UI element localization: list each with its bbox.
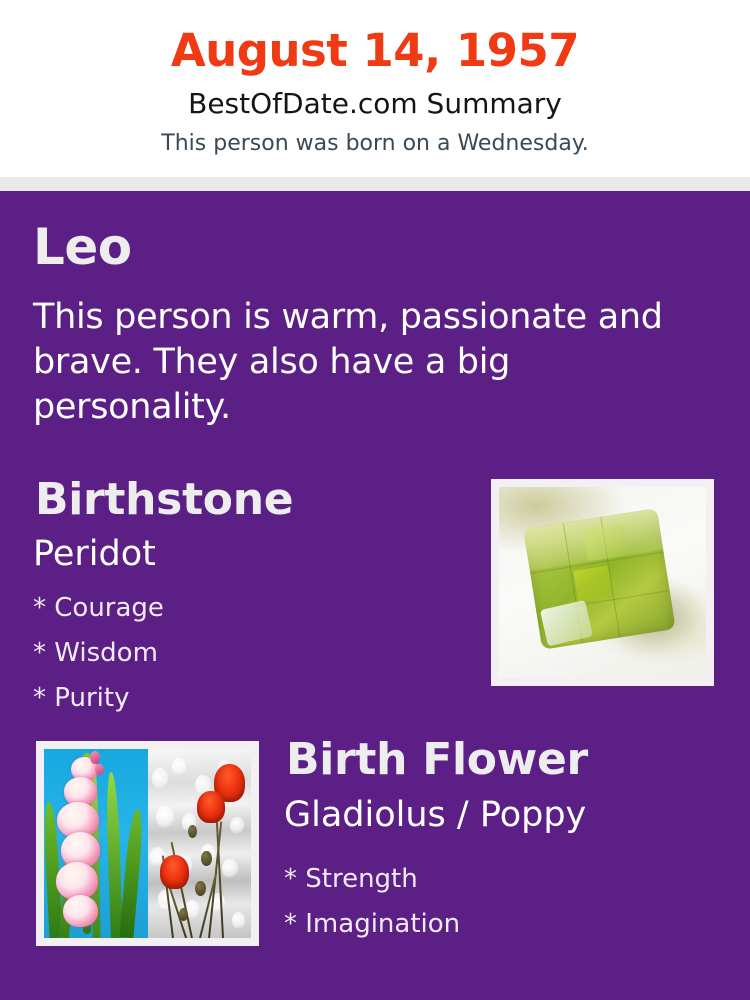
footer-spacer [0, 946, 750, 1000]
header: August 14, 1957 BestOfDate.com Summary T… [0, 0, 750, 177]
birthstone-heading: Birthstone [35, 478, 293, 522]
summary-card: August 14, 1957 BestOfDate.com Summary T… [0, 0, 750, 1000]
gladiolus-photo-half [44, 749, 148, 938]
birthstone-image-frame [491, 479, 714, 686]
header-divider [0, 177, 750, 191]
poppy-bud-icon [188, 825, 197, 838]
gladiolus-bloom-icon [63, 895, 98, 927]
birth-flower-name: Gladiolus / Poppy [284, 798, 586, 833]
birth-flower-heading: Birth Flower [286, 738, 588, 782]
peridot-image [499, 487, 706, 678]
birth-flower-trait-list: * Strength * Imagination [284, 857, 460, 947]
birthstone-trait: * Courage [33, 586, 164, 631]
birthstone-trait-list: * Courage * Wisdom * Purity [33, 586, 164, 721]
birth-flower-trait: * Imagination [284, 902, 460, 947]
zodiac-sign-title: Leo [33, 222, 132, 272]
zodiac-description: This person is warm, passionate and brav… [33, 295, 693, 429]
birth-flower-image [44, 749, 251, 938]
birth-flower-trait: * Strength [284, 857, 460, 902]
poppy-flower-icon [160, 855, 189, 889]
poppy-bud-icon [179, 908, 188, 921]
birthstone-trait: * Purity [33, 676, 164, 721]
poppy-photo-half [148, 749, 252, 938]
site-name: BestOfDate.com Summary [0, 73, 750, 118]
birth-flower-image-frame [36, 741, 259, 946]
birthstone-name: Peridot [33, 537, 156, 572]
birth-weekday-note: This person was born on a Wednesday. [0, 118, 750, 155]
poppy-bud-icon [201, 851, 211, 866]
birthstone-trait: * Wisdom [33, 631, 164, 676]
page-title-date: August 14, 1957 [0, 0, 750, 73]
gladiolus-bud-icon [90, 751, 100, 764]
poppy-flower-icon [197, 791, 225, 823]
peridot-crystal-icon [523, 508, 675, 650]
